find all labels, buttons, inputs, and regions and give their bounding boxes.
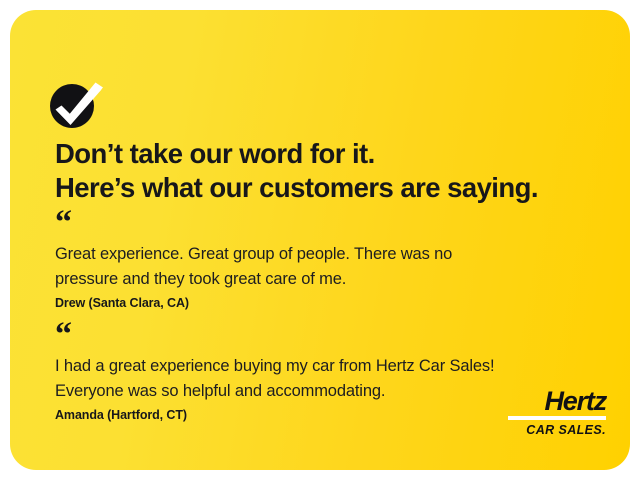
check-circle-icon — [48, 80, 114, 130]
headline-line-1: Don’t take our word for it. — [55, 137, 615, 171]
testimonial-text-line-1: Great experience. Great group of people.… — [55, 242, 615, 267]
hertz-car-sales-logo: Hertz CAR SALES. — [496, 388, 606, 438]
quote-mark-icon: “ — [55, 328, 615, 345]
testimonial-text: Great experience. Great group of people.… — [55, 242, 615, 291]
testimonial-card: Don’t take our word for it. Here’s what … — [10, 10, 630, 470]
testimonial-item: “ Great experience. Great group of peopl… — [55, 216, 615, 310]
testimonial-text-line-1: I had a great experience buying my car f… — [55, 354, 615, 379]
screenshot-canvas: Don’t take our word for it. Here’s what … — [0, 0, 640, 480]
headline-line-2: Here’s what our customers are saying. — [55, 171, 615, 205]
logo-wordmark: Hertz — [496, 388, 606, 415]
logo-underline-rule — [508, 416, 606, 420]
testimonial-text-line-2: pressure and they took great care of me. — [55, 267, 615, 292]
logo-subtitle: CAR SALES. — [496, 423, 606, 438]
testimonial-attribution: Drew (Santa Clara, CA) — [55, 296, 615, 310]
quote-mark-icon: “ — [55, 216, 615, 233]
page-title: Don’t take our word for it. Here’s what … — [55, 137, 615, 205]
